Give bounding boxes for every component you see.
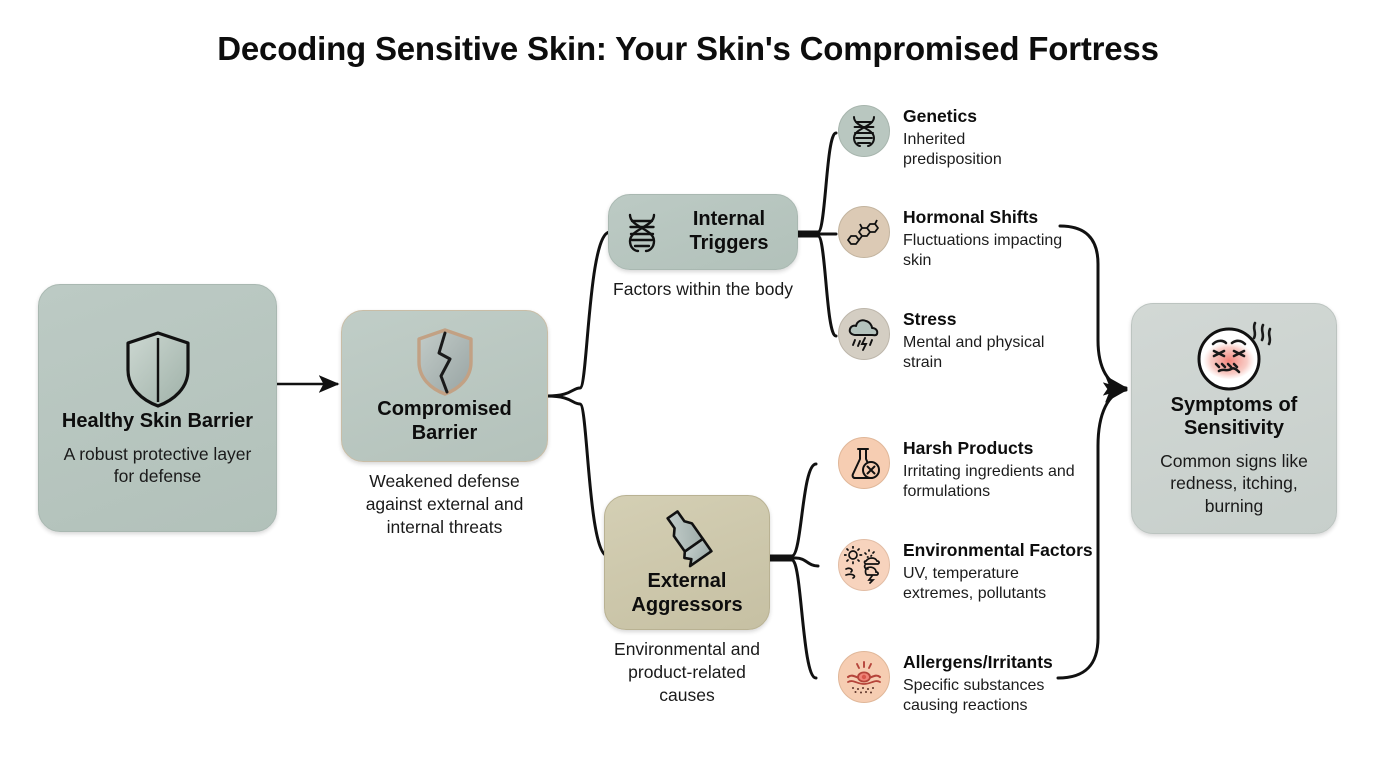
node-healthy-desc: A robust protective layer for defense [51,443,264,488]
node-healthy-title: Healthy Skin Barrier [62,410,253,434]
node-external-title: External Aggressors [617,570,757,617]
hormone-molecule-icon [838,206,890,258]
leaf-environmental-title: Environmental Factors [903,540,1093,561]
cracked-shield-icon [412,326,478,398]
leaf-allergens-irritants[interactable]: Allergens/Irritants Specific substances … [838,651,1083,716]
dna-icon [838,105,890,157]
leaf-hormonal-desc: Fluctuations impacting skin [903,231,1073,271]
edge-external-to-allergens [770,560,816,678]
leaf-stress-desc: Mental and physical strain [903,333,1053,373]
edge-compromised-to-internal [547,232,610,396]
leaf-stress-title: Stress [903,309,1053,330]
node-compromised-desc: Weakened defense against external and in… [341,470,548,538]
node-healthy-skin-barrier[interactable]: Healthy Skin Barrier A robust protective… [38,284,277,532]
edge-external-factors-to-symptoms [1058,390,1126,678]
node-symptoms-title: Symptoms of Sensitivity [1144,394,1324,441]
node-symptoms-desc: Common signs like redness, itching, burn… [1144,450,1324,517]
node-internal-triggers[interactable]: Internal Triggers Factors within the bod… [608,194,798,301]
node-symptoms-of-sensitivity[interactable]: Symptoms of Sensitivity Common signs lik… [1131,303,1337,534]
leaf-genetics[interactable]: Genetics Inherited predisposition [838,105,1063,170]
leaf-stress[interactable]: Stress Mental and physical strain [838,308,1053,373]
edge-internal-to-stress [797,236,836,336]
irritated-skin-icon [838,651,890,703]
leaf-allergens-desc: Specific substances causing reactions [903,676,1083,716]
leaf-environmental-factors[interactable]: Environmental Factors UV, temperature ex… [838,539,1093,604]
page-title: Decoding Sensitive Skin: Your Skin's Com… [0,30,1376,68]
weather-elements-icon [838,539,890,591]
edge-internal-to-genetics [797,133,836,232]
node-compromised-title: Compromised Barrier [354,398,535,445]
leaf-hormonal-title: Hormonal Shifts [903,207,1073,228]
edge-compromised-to-external [547,396,608,556]
node-external-aggressors[interactable]: External Aggressors Environmental and pr… [604,495,770,706]
irritated-face-icon [1191,320,1277,394]
leaf-allergens-title: Allergens/Irritants [903,652,1083,673]
storm-cloud-icon [838,308,890,360]
node-internal-desc: Factors within the body [608,278,798,301]
edge-external-to-environmental [770,558,818,566]
shield-icon [120,328,196,410]
node-compromised-barrier[interactable]: Compromised Barrier Weakened defense aga… [341,310,548,538]
leaf-harsh-products[interactable]: Harsh Products Irritating ingredients an… [838,437,1088,502]
leaf-harsh-title: Harsh Products [903,438,1088,459]
node-external-desc: Environmental and product-related causes [604,638,770,706]
leaf-genetics-desc: Inherited predisposition [903,130,1063,170]
leaf-environmental-desc: UV, temperature extremes, pollutants [903,564,1083,604]
leaf-harsh-desc: Irritating ingredients and formulations [903,462,1088,502]
dna-icon [621,210,663,254]
flask-no-entry-icon [838,437,890,489]
leaf-hormonal-shifts[interactable]: Hormonal Shifts Fluctuations impacting s… [838,206,1073,271]
edge-external-to-harsh [770,464,816,556]
infographic-canvas: Decoding Sensitive Skin: Your Skin's Com… [0,0,1376,768]
broken-bottle-icon [652,508,722,570]
leaf-genetics-title: Genetics [903,106,1063,127]
node-internal-title: Internal Triggers [673,208,785,255]
